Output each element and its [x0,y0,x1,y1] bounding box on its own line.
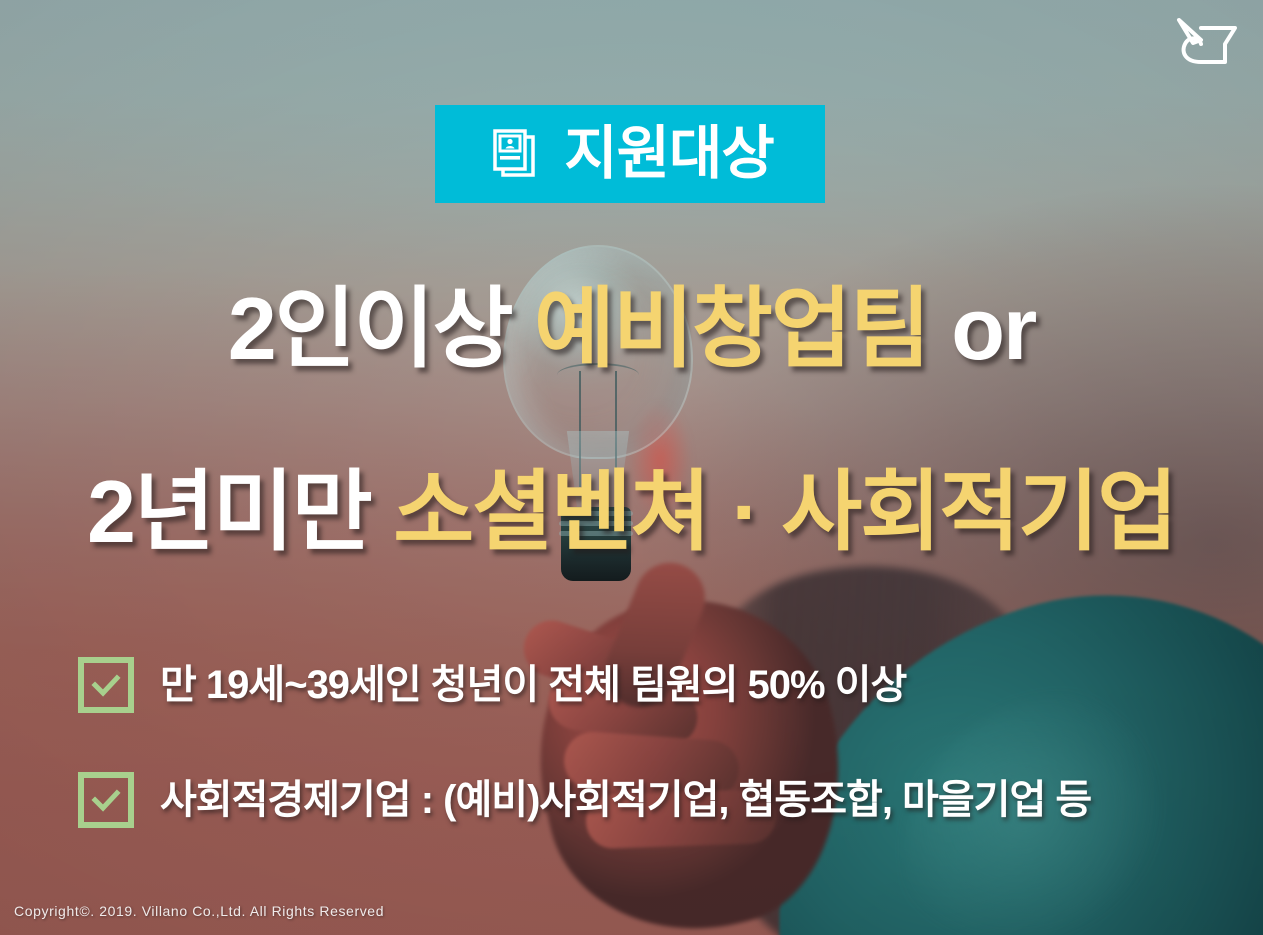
id-document-icon [486,125,544,183]
slide-canvas: 지원대상 2인이상 예비창업팀 or 2년미만 소셜벤쳐 · 사회적기업 만 1… [0,0,1263,935]
headline-1-suffix: or [929,279,1035,378]
section-badge: 지원대상 [435,105,825,203]
headline-1-accent: 예비창업팀 [534,279,929,378]
copyright-text: Copyright©. 2019. Villano Co.,Ltd. All R… [14,903,384,919]
list-item-label: 사회적경제기업 : (예비)사회적기업, 협동조합, 마을기업 등 [160,778,1091,822]
headline-line-2: 2년미만 소셜벤쳐 · 사회적기업 [0,468,1263,556]
headline-1-prefix: 2인이상 [228,279,534,378]
bird-logo-icon [1171,10,1245,76]
section-badge-label: 지원대상 [564,125,773,183]
list-item: 만 19세~39세인 청년이 전체 팀원의 50% 이상 [78,657,906,713]
headline-line-1: 2인이상 예비창업팀 or [0,285,1263,373]
headline-2-prefix: 2년미만 [87,462,393,561]
checkbox-checked-icon [78,772,134,828]
checkbox-checked-icon [78,657,134,713]
headline-2-accent: 소셜벤쳐 · 사회적기업 [393,462,1176,561]
list-item-label: 만 19세~39세인 청년이 전체 팀원의 50% 이상 [160,663,906,707]
list-item: 사회적경제기업 : (예비)사회적기업, 협동조합, 마을기업 등 [78,772,1091,828]
